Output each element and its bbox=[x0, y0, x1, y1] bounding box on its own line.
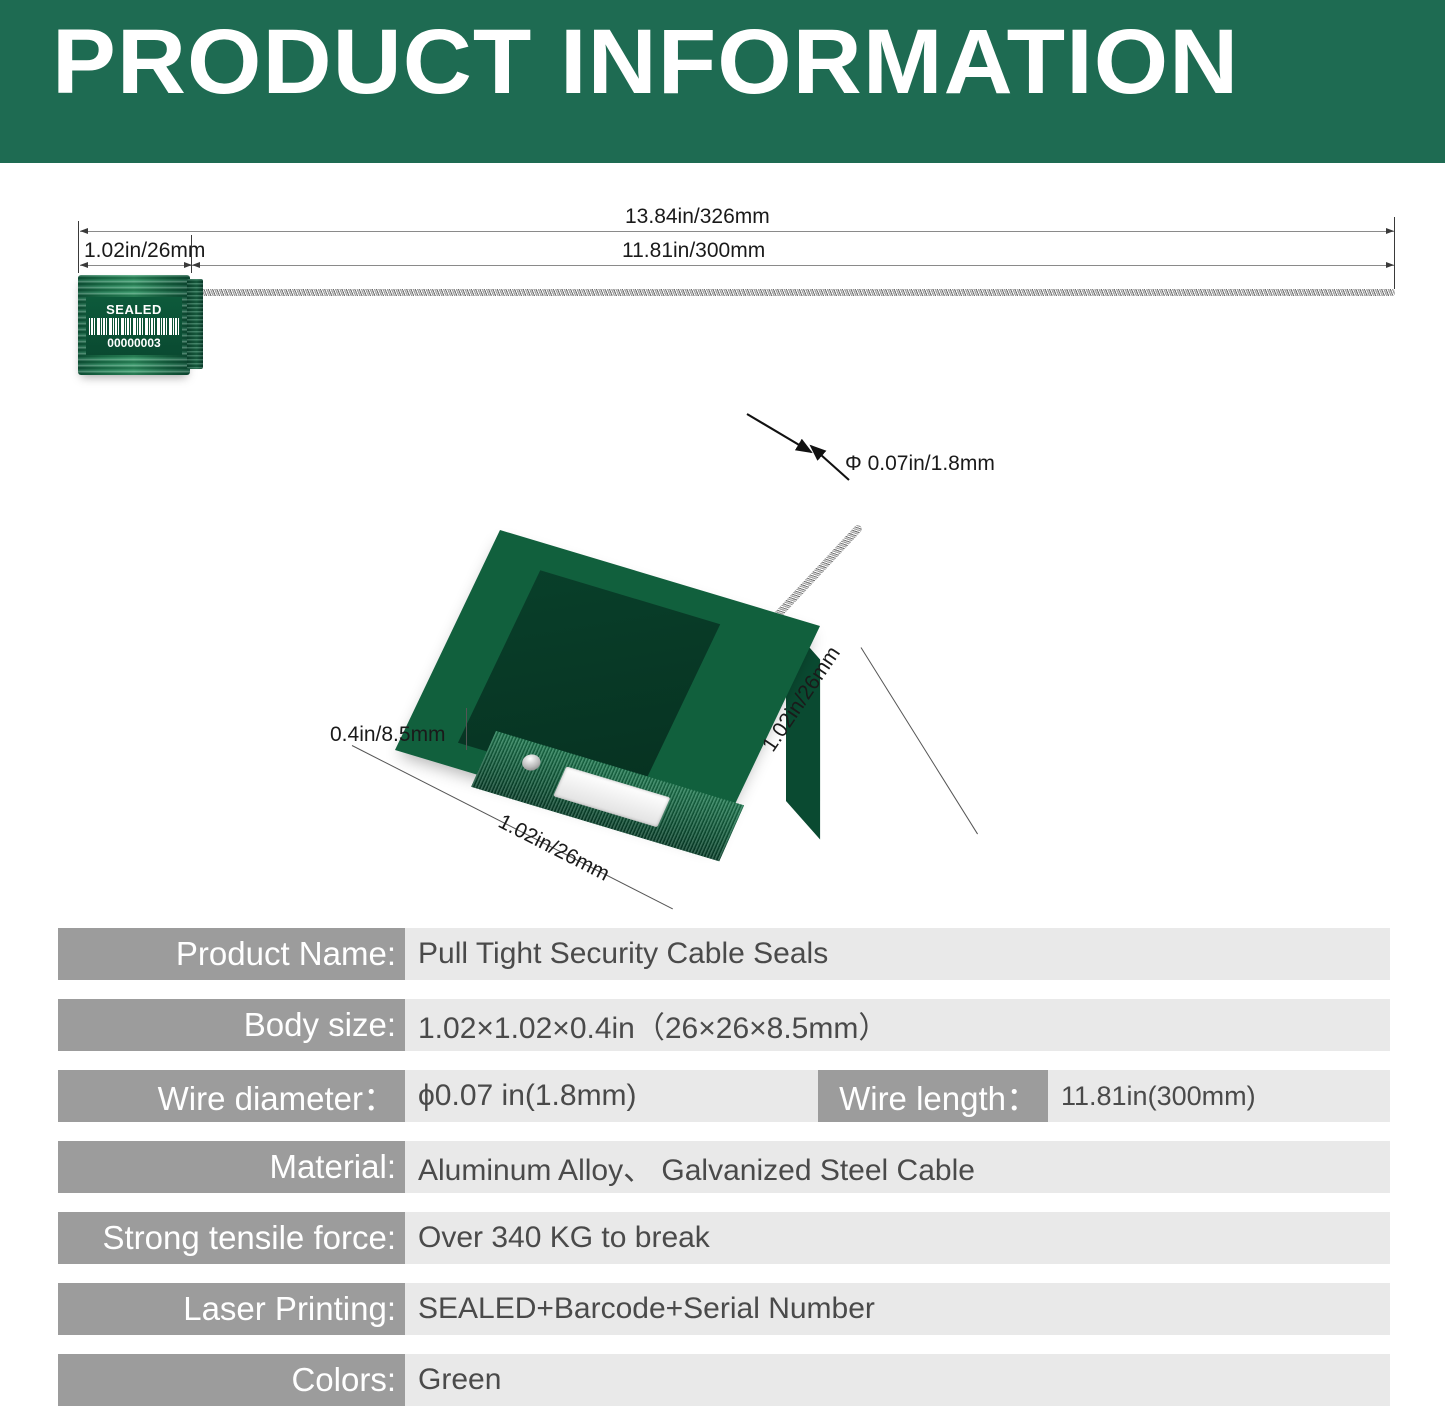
extension-line-right bbox=[1394, 217, 1395, 289]
table-row: Colors: Green bbox=[58, 1354, 1390, 1406]
table-row: Body size: 1.02×1.02×0.4in（26×26×8.5mm） bbox=[58, 999, 1390, 1051]
wire-diameter-arrow-lower bbox=[805, 440, 865, 488]
wire-length-dim-line bbox=[192, 265, 1394, 266]
top-dimension-diagram: 13.84in/326mm 11.81in/300mm 1.02in/26mm … bbox=[0, 163, 1445, 393]
spec-value-colors: Green bbox=[405, 1354, 1390, 1406]
spec-label-body-size: Body size: bbox=[58, 999, 405, 1051]
extension-line-mid bbox=[191, 235, 192, 273]
header-banner: PRODUCT INFORMATION bbox=[0, 0, 1445, 163]
overall-length-dim-line bbox=[80, 231, 1394, 232]
spec-label-wire-length: Wire length： bbox=[818, 1070, 1048, 1122]
depth-dim-line bbox=[861, 647, 978, 834]
barcode-icon bbox=[89, 318, 179, 335]
spec-value-material: Aluminum Alloy、 Galvanized Steel Cable bbox=[405, 1141, 1390, 1193]
wire-length-arrow-right bbox=[1386, 262, 1394, 268]
table-row: Strong tensile force: Over 340 KG to bre… bbox=[58, 1212, 1390, 1264]
body-width-dim-line bbox=[80, 265, 192, 266]
table-row: Wire diameter： ϕ0.07 in(1.8mm) Wire leng… bbox=[58, 1070, 1390, 1122]
spec-label-laser-printing: Laser Printing: bbox=[58, 1283, 405, 1335]
spec-value-wire-diameter: ϕ0.07 in(1.8mm) bbox=[405, 1070, 818, 1122]
extension-line-left bbox=[78, 221, 79, 273]
cable-wire bbox=[190, 289, 1395, 296]
overall-length-label: 13.84in/326mm bbox=[625, 205, 770, 229]
serial-number-text: 00000003 bbox=[107, 337, 160, 349]
thickness-tick bbox=[466, 708, 467, 750]
seal-pin-icon bbox=[519, 752, 543, 772]
spec-label-material: Material: bbox=[58, 1141, 405, 1193]
body-width-label: 1.02in/26mm bbox=[84, 239, 205, 263]
spec-value-tensile-force: Over 340 KG to break bbox=[405, 1212, 1390, 1264]
spec-label-colors: Colors: bbox=[58, 1354, 405, 1406]
table-row: Laser Printing: SEALED+Barcode+Serial Nu… bbox=[58, 1283, 1390, 1335]
table-row: Product Name: Pull Tight Security Cable … bbox=[58, 928, 1390, 980]
overall-length-arrow-right bbox=[1386, 228, 1394, 234]
sealed-text: SEALED bbox=[106, 303, 162, 316]
main-product-diagram: Φ 0.07in/1.8mm SEALED 00000003 bbox=[0, 360, 1445, 920]
spec-label-wire-diameter: Wire diameter： bbox=[58, 1070, 405, 1122]
seal-label-small: SEALED 00000003 bbox=[86, 297, 182, 355]
page-title: PRODUCT INFORMATION bbox=[52, 14, 1239, 111]
spec-value-body-size: 1.02×1.02×0.4in（26×26×8.5mm） bbox=[405, 999, 1390, 1051]
spec-value-product-name: Pull Tight Security Cable Seals bbox=[405, 928, 1390, 980]
wire-diameter-label: Φ 0.07in/1.8mm bbox=[845, 452, 995, 476]
overall-length-arrow-left bbox=[80, 228, 88, 234]
spec-label-product-name: Product Name: bbox=[58, 928, 405, 980]
wire-length-label: 11.81in/300mm bbox=[622, 239, 765, 263]
specification-table: Product Name: Pull Tight Security Cable … bbox=[58, 928, 1390, 1425]
table-row: Material: Aluminum Alloy、 Galvanized Ste… bbox=[58, 1141, 1390, 1193]
spec-value-laser-printing: SEALED+Barcode+Serial Number bbox=[405, 1283, 1390, 1335]
seal-cap-small bbox=[187, 279, 203, 369]
spec-label-tensile-force: Strong tensile force: bbox=[58, 1212, 405, 1264]
thickness-label: 0.4in/8.5mm bbox=[330, 723, 446, 747]
spec-value-wire-length: 11.81in(300mm) bbox=[1048, 1070, 1390, 1122]
body-width-arrow-left bbox=[80, 262, 88, 268]
